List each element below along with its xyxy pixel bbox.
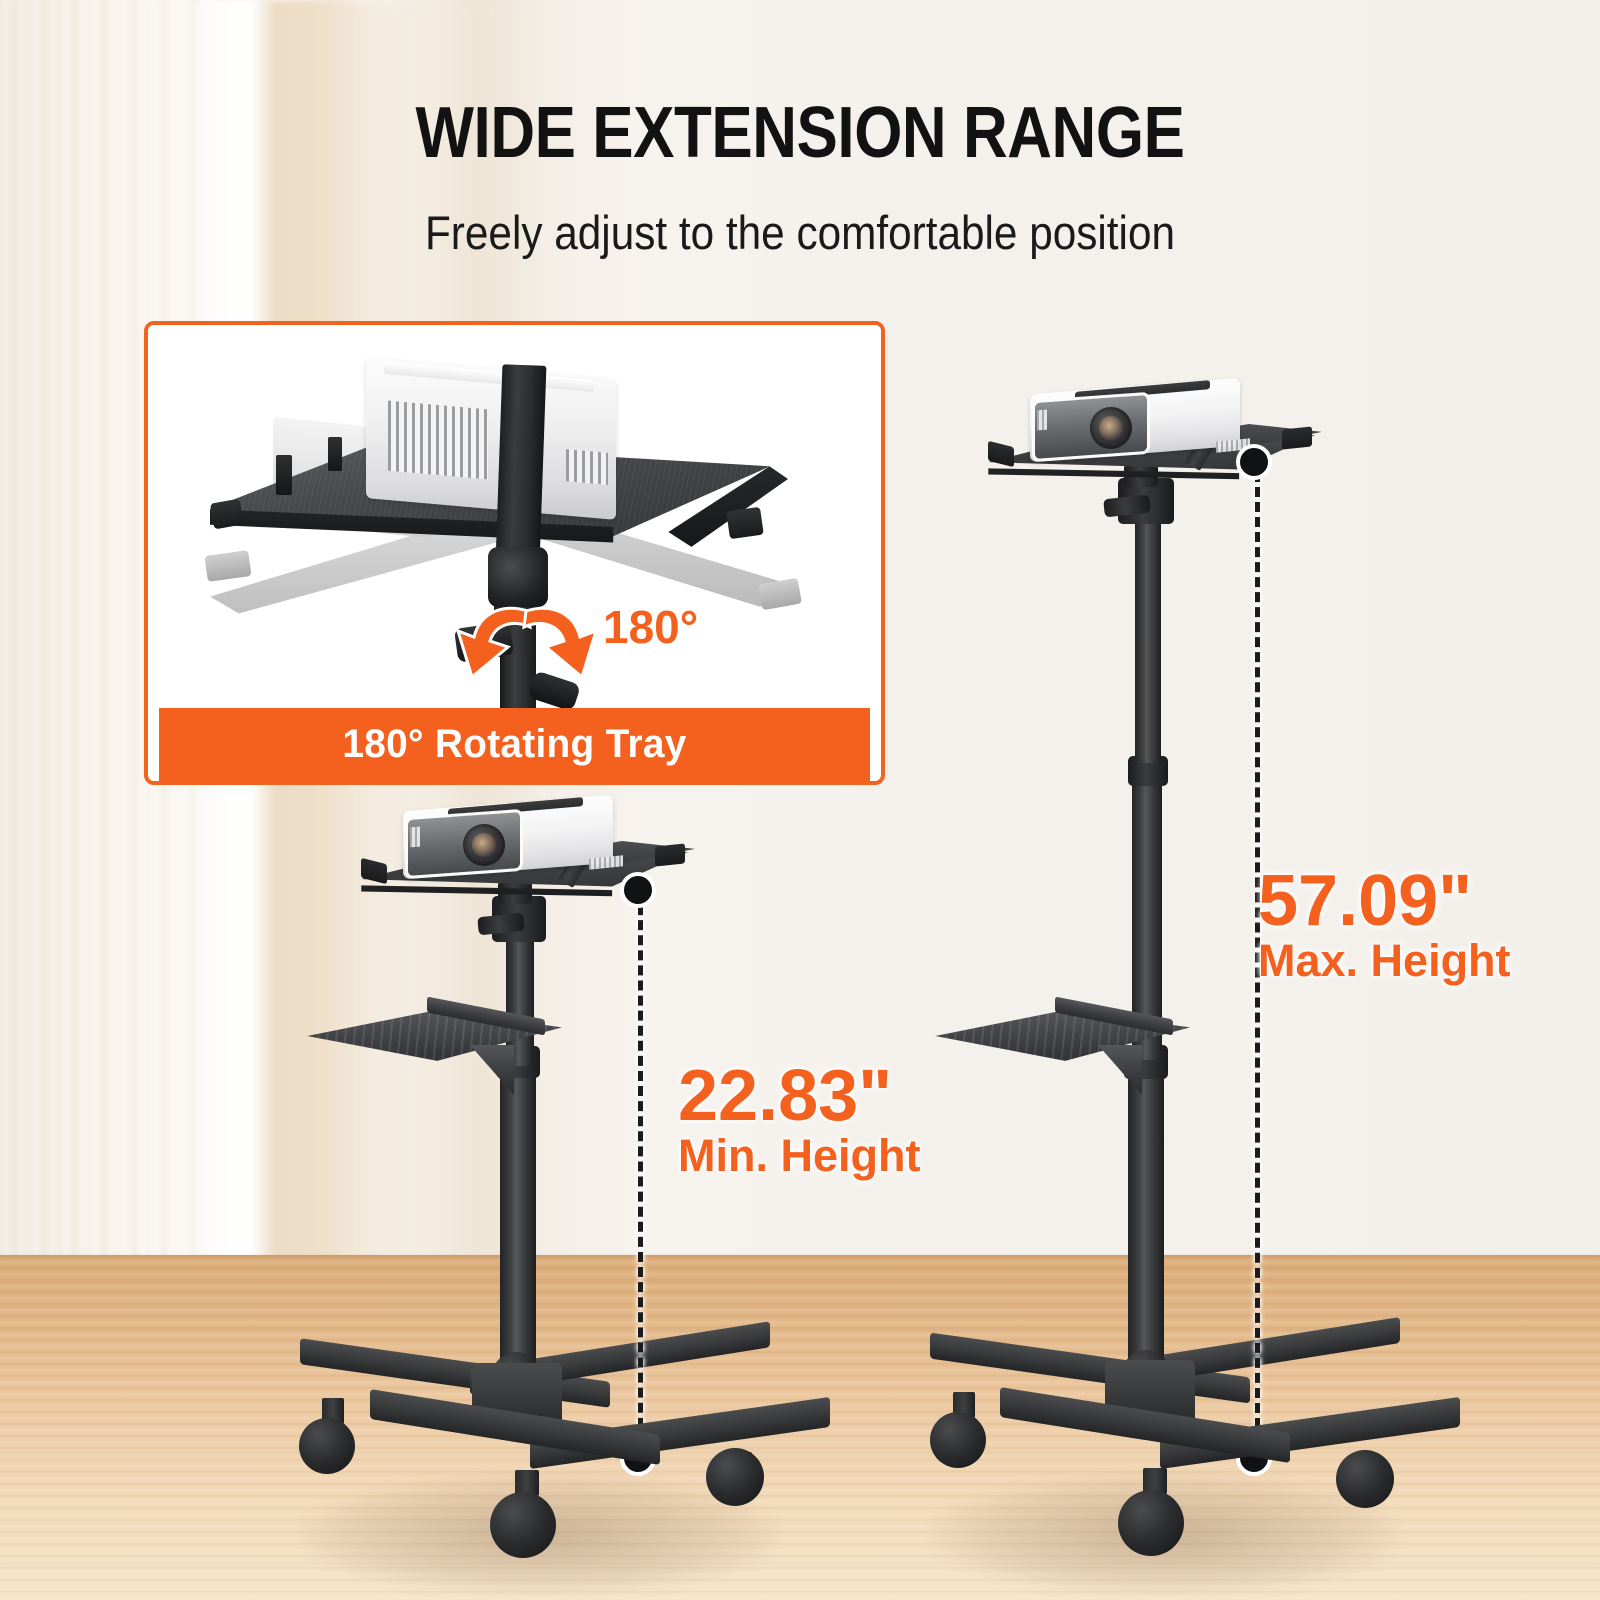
caster-wheel-front bbox=[490, 1492, 556, 1558]
telescoping-pole-lower bbox=[500, 1060, 536, 1378]
rotating-tray-photo: 180° bbox=[148, 325, 881, 712]
projector-lens-glass bbox=[472, 833, 496, 857]
projector-rear-vent-small bbox=[566, 449, 608, 485]
rotation-degree-label: 180° bbox=[603, 600, 698, 654]
tray-corner-post-back bbox=[328, 437, 342, 471]
caster-wheel-rear-right bbox=[706, 1448, 764, 1506]
product-marketing-image: WIDE EXTENSION RANGE Freely adjust to th… bbox=[0, 0, 1600, 1600]
tray-corner-post-left bbox=[276, 455, 292, 495]
callout-caption: 180° Rotating Tray bbox=[159, 708, 870, 781]
rotation-arrows-icon bbox=[432, 555, 622, 695]
ghost-tray-lip-right bbox=[758, 578, 802, 611]
tray-stop-left bbox=[210, 499, 244, 530]
ghost-tray-lip-left bbox=[204, 550, 251, 582]
min-height-top-marker bbox=[620, 872, 656, 908]
projector-vent bbox=[410, 827, 420, 848]
min-height-value: 22.83" bbox=[678, 1055, 892, 1137]
caster-wheel-rear-right bbox=[1336, 1450, 1394, 1508]
rotating-tray-callout: 180° 180° Rotating Tray bbox=[144, 321, 885, 785]
caster-wheel-rear-left bbox=[299, 1418, 355, 1474]
caster-wheel-front bbox=[1118, 1490, 1184, 1556]
tray-stop-right bbox=[726, 507, 764, 539]
tray-side-stop-right bbox=[655, 843, 685, 866]
tray-side-stop-left bbox=[361, 858, 387, 884]
stand-min-height: 22.83" Min. Height bbox=[0, 0, 1600, 1600]
min-height-label: Min. Height bbox=[678, 1130, 920, 1182]
projector-rear-vent bbox=[388, 401, 488, 480]
min-height-dimension-line bbox=[638, 890, 643, 1458]
